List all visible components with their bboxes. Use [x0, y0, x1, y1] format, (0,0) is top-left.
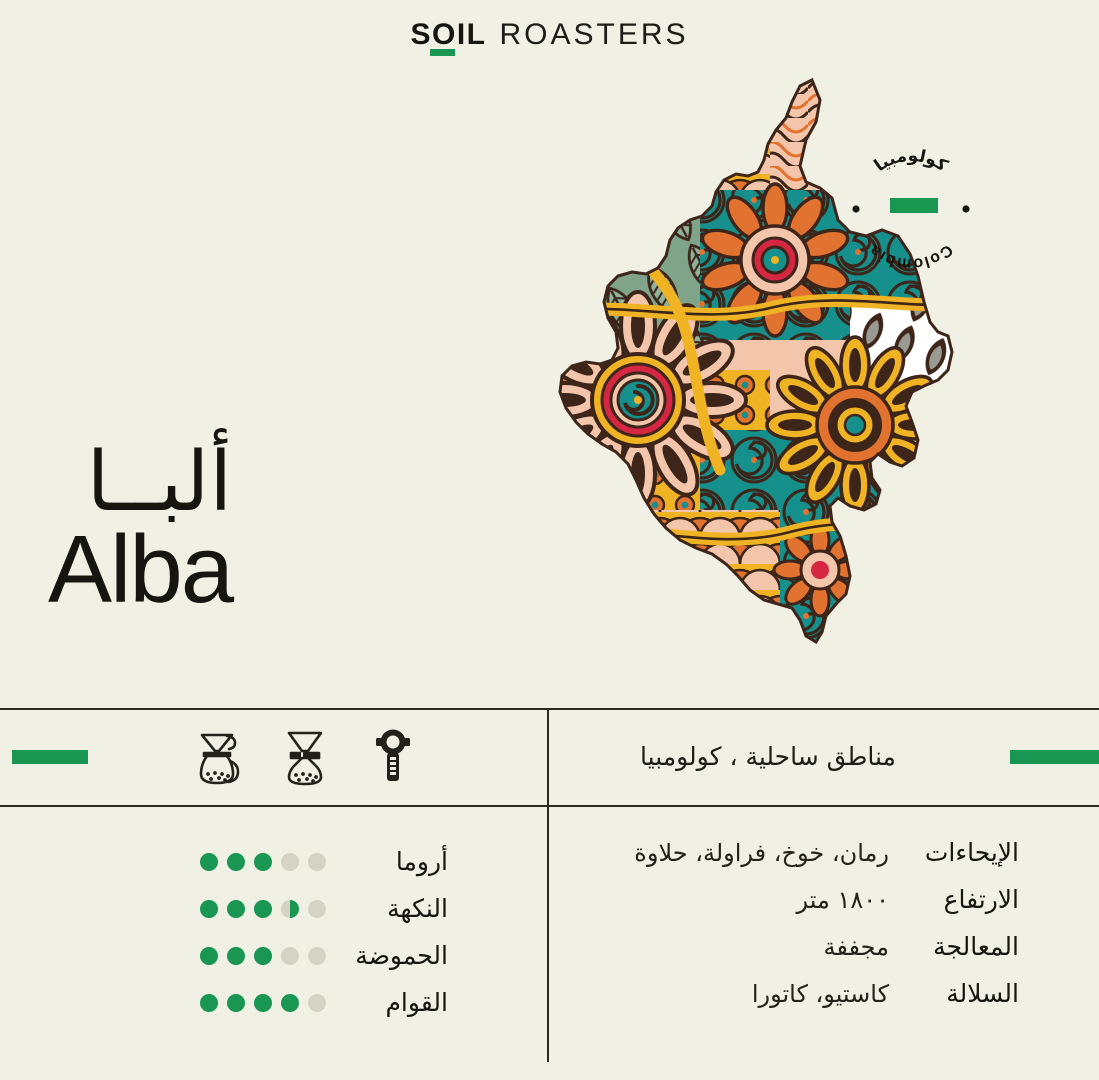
rating-row-acidity: الحموضة	[178, 932, 448, 979]
rating-dot	[254, 900, 272, 918]
svg-text:كولومبيا: كولومبيا	[871, 146, 952, 176]
brand-logo: SOIL ROASTERS	[410, 20, 688, 50]
brand-word: ROASTERS	[499, 20, 688, 50]
info-value-varietal: كاستيو، كاتورا	[752, 980, 889, 1008]
info-label-altitude: الارتفاع	[907, 885, 1019, 914]
brand-mark-text: SOIL	[410, 18, 486, 51]
rating-dots-body	[200, 994, 326, 1012]
rating-dot	[254, 853, 272, 871]
product-name-block: ألبــا Alba	[48, 440, 232, 618]
rating-label-acidity: الحموضة	[342, 941, 448, 970]
info-label-process: المعالجة	[907, 932, 1019, 961]
seal-accent-bar	[890, 198, 938, 213]
accent-bar-left	[12, 750, 88, 764]
info-label-notes: الإيحاءات	[907, 838, 1019, 867]
brand-mark: SOIL	[410, 20, 486, 50]
info-row-altitude: الارتفاع ١٨٠٠ متر	[599, 885, 1019, 932]
rating-dot	[227, 900, 245, 918]
info-value-altitude: ١٨٠٠ متر	[796, 886, 889, 914]
origin-region-row: مناطق ساحلية ، كولومبيا	[548, 708, 988, 805]
info-value-notes: رمان، خوخ، فراولة، حلاوة	[634, 839, 889, 867]
info-row-varietal: السلالة كاستيو، كاتورا	[599, 979, 1019, 1026]
rating-dots-aroma	[200, 853, 326, 871]
info-row-notes: الإيحاءات رمان، خوخ، فراولة، حلاوة	[599, 838, 1019, 885]
coffee-info-table: الإيحاءات رمان، خوخ، فراولة، حلاوة الارت…	[599, 838, 1019, 1026]
info-label-varietal: السلالة	[907, 979, 1019, 1008]
rating-dot	[227, 853, 245, 871]
seal-latin-text: Colombia	[866, 241, 956, 268]
rating-label-flavor: النكهة	[342, 894, 448, 923]
rating-dot	[254, 947, 272, 965]
portafilter-icon	[370, 727, 416, 787]
rating-dots-flavor	[200, 900, 326, 918]
chemex-icon	[282, 727, 328, 787]
pourover-dripper-icon	[194, 727, 240, 787]
seal-dot-right	[962, 205, 969, 212]
rating-dot	[281, 947, 299, 965]
rating-label-body: القوام	[342, 988, 448, 1017]
rating-dot	[308, 994, 326, 1012]
rating-dot	[200, 900, 218, 918]
rating-dots-acidity	[200, 947, 326, 965]
info-row-process: المعالجة مجففة	[599, 932, 1019, 979]
rating-dot	[227, 994, 245, 1012]
rating-dot	[200, 947, 218, 965]
svg-text:Colombia: Colombia	[866, 241, 956, 268]
rating-label-aroma: أروما	[342, 847, 448, 876]
rating-row-aroma: أروما	[178, 838, 448, 885]
brand-header: SOIL ROASTERS	[0, 0, 1099, 70]
product-name-arabic: ألبــا	[48, 440, 232, 526]
rating-dot	[281, 853, 299, 871]
rating-dot	[200, 994, 218, 1012]
rating-dot	[281, 994, 299, 1012]
brew-method-row	[190, 708, 420, 805]
divider-middle	[0, 805, 1099, 807]
label-canvas: SOIL ROASTERS	[0, 0, 1099, 1080]
rating-row-body: القوام	[178, 979, 448, 1026]
cupping-ratings: أروما النكهة الحموضة القوام	[178, 838, 448, 1026]
seal-dot-left	[852, 205, 859, 212]
seal-arabic-text: كولومبيا	[871, 146, 952, 176]
origin-region-text: مناطق ساحلية ، كولومبيا	[640, 742, 896, 771]
rating-dot	[254, 994, 272, 1012]
brand-underline-accent	[430, 49, 455, 56]
rating-dot	[308, 853, 326, 871]
rating-row-flavor: النكهة	[178, 885, 448, 932]
rating-dot	[308, 947, 326, 965]
rating-dot	[281, 900, 299, 918]
rating-dot	[308, 900, 326, 918]
info-value-process: مجففة	[824, 933, 890, 961]
rating-dot	[227, 947, 245, 965]
rating-dot	[200, 853, 218, 871]
origin-seal: كولومبيا Colombia	[848, 142, 974, 268]
product-name-latin: Alba	[48, 522, 232, 618]
accent-bar-right	[1010, 750, 1099, 764]
